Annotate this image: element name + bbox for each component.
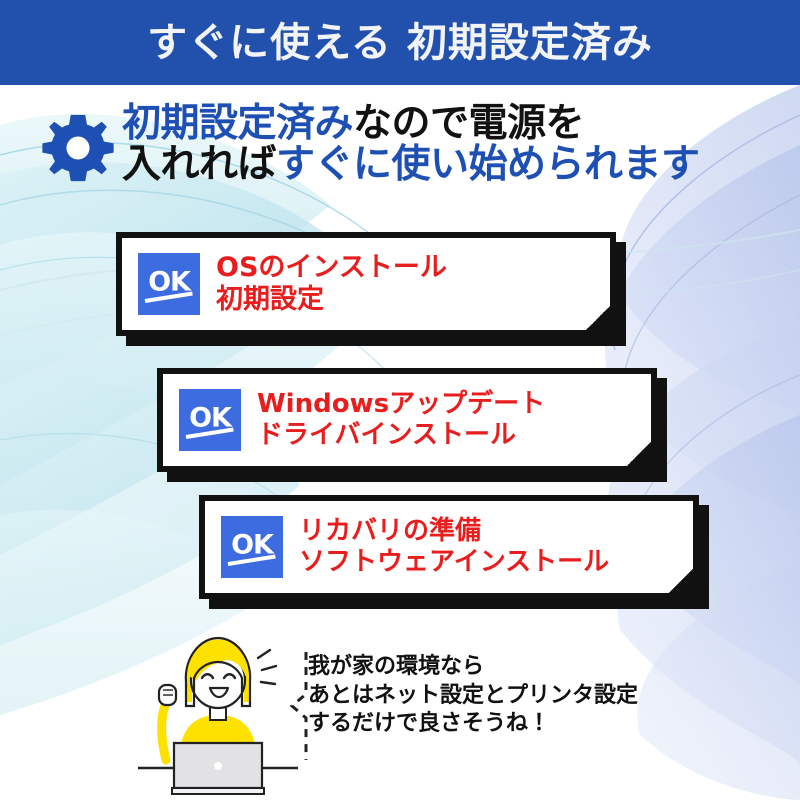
- header-banner: すぐに使える 初期設定済み: [0, 0, 800, 85]
- woman-with-laptop-illustration: [128, 628, 308, 800]
- advertisement-page: すぐに使える 初期設定済み 初期設定済みなので電源を 入れればすぐに使い始められ…: [0, 0, 800, 800]
- headline-line1-black: なので電源を: [353, 101, 584, 146]
- speech-line-1: 我が家の環境なら: [308, 653, 638, 682]
- ok-card-2-line2: ドライバインストール: [257, 420, 545, 451]
- ok-badge-3: OK: [221, 516, 283, 578]
- headline-line2-black: 入れれば: [122, 142, 276, 187]
- speech-line-3: するだけで良さそうね！: [308, 710, 638, 739]
- ok-badge-label: OK: [148, 268, 190, 295]
- header-title: すぐに使える 初期設定済み: [147, 23, 653, 63]
- ok-card-1-line2: 初期設定: [216, 284, 447, 316]
- ok-card-3-line2: ソフトウェアインストール: [299, 547, 609, 578]
- ok-badge-label: OK: [189, 404, 231, 431]
- headline-line1-blue: 初期設定済み: [122, 101, 353, 146]
- ok-card-2-line1: Windowsアップデート: [257, 389, 545, 420]
- ok-card-2-text: Windowsアップデート ドライバインストール: [257, 389, 545, 450]
- headline-line-1: 初期設定済みなので電源を: [122, 103, 700, 144]
- ok-badge-1: OK: [138, 253, 200, 315]
- speech-text: 我が家の環境なら あとはネット設定とプリンタ設定 するだけで良さそうね！: [308, 653, 638, 739]
- ok-badge-label: OK: [231, 531, 273, 558]
- ok-card-3-line1: リカバリの準備: [299, 516, 609, 547]
- headline-line2-blue: すぐに使い始められます: [276, 142, 700, 187]
- ok-card-3-text: リカバリの準備 ソフトウェアインストール: [299, 516, 609, 577]
- ok-card-1[interactable]: OK OSのインストール 初期設定: [116, 232, 616, 336]
- ok-card-1-text: OSのインストール 初期設定: [216, 252, 447, 316]
- ok-badge-2: OK: [179, 389, 241, 451]
- ok-card-3[interactable]: OK リカバリの準備 ソフトウェアインストール: [199, 495, 699, 599]
- ok-card-1-line1: OSのインストール: [216, 252, 447, 284]
- headline-line-2: 入れればすぐに使い始められます: [122, 144, 700, 185]
- ok-card-2[interactable]: OK Windowsアップデート ドライバインストール: [157, 368, 657, 472]
- speech-line-2: あとはネット設定とプリンタ設定: [308, 682, 638, 711]
- gear-icon: [42, 112, 114, 184]
- headline: 初期設定済みなので電源を 入れればすぐに使い始められます: [122, 103, 700, 186]
